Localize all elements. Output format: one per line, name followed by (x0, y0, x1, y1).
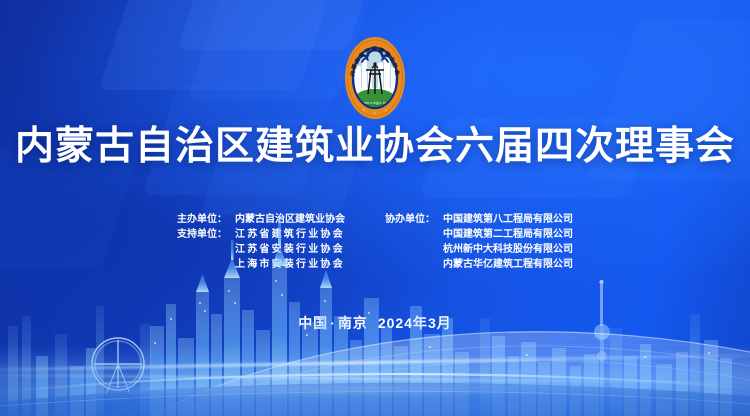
ferris-wheel (92, 338, 144, 394)
light-streak (0, 353, 750, 372)
conference-banner: www.nmgjx.org 内蒙古自治区建筑业协会 内蒙古自治区建筑业协会六届四… (0, 0, 750, 416)
country-label: 中国 (298, 315, 328, 331)
organizer-value: 中国建筑第二工程局有限公司 (443, 227, 573, 242)
location-date: 中国·南京2024年3月 (0, 313, 750, 333)
organizer-value: 中国建筑第八工程局有限公司 (443, 212, 573, 227)
page-title: 内蒙古自治区建筑业协会六届四次理事会 (0, 127, 750, 166)
organizer-row: 支持单位： 江苏省建筑行业协会 (177, 227, 345, 242)
organizer-value: 江苏省建筑行业协会 (235, 227, 345, 242)
organizer-row: 协办单位： 杭州新中大科技股份有限公司 (385, 242, 573, 257)
organizer-value: 江苏省安装行业协会 (235, 242, 345, 257)
organizer-label: 协办单位： (385, 212, 443, 227)
floor-glow (0, 344, 750, 416)
association-emblem-icon: www.nmgjx.org 内蒙古自治区建筑业协会 (344, 36, 406, 120)
organizer-value: 上海市安装行业协会 (235, 257, 345, 272)
organizer-value: 内蒙古自治区建筑业协会 (235, 212, 345, 227)
light-streak (0, 374, 750, 385)
light-streak-glow (0, 383, 750, 395)
organizer-row: 主办单位： 内蒙古自治区建筑业协会 (177, 212, 345, 227)
background-parallelogram (476, 0, 750, 120)
arc-sweep (150, 332, 750, 416)
organizers-left-column: 主办单位： 内蒙古自治区建筑业协会 支持单位： 江苏省建筑行业协会 支持单位： … (177, 212, 345, 272)
organizer-row: 协办单位： 中国建筑第二工程局有限公司 (385, 227, 573, 242)
background-parallelogram (99, 0, 341, 90)
organizer-label: 主办单位： (177, 212, 235, 227)
organizer-row: 协办单位： 中国建筑第八工程局有限公司 (385, 212, 573, 227)
organizer-label: 支持单位： (177, 227, 235, 242)
organizer-row: 支持单位： 上海市安装行业协会 (177, 257, 345, 272)
organizer-row: 支持单位： 江苏省安装行业协会 (177, 242, 345, 257)
city-label: 南京 (338, 315, 368, 331)
organizers-block: 主办单位： 内蒙古自治区建筑业协会 支持单位： 江苏省建筑行业协会 支持单位： … (0, 212, 750, 272)
organizer-value: 杭州新中大科技股份有限公司 (443, 242, 573, 257)
separator-dot: · (328, 315, 338, 331)
pearl-tower (594, 280, 610, 416)
date-label: 2024年3月 (378, 315, 452, 331)
organizer-row: 协办单位： 内蒙古华亿建筑工程有限公司 (385, 257, 573, 272)
organizers-right-column: 协办单位： 中国建筑第八工程局有限公司 协办单位： 中国建筑第二工程局有限公司 … (385, 212, 573, 272)
organizer-value: 内蒙古华亿建筑工程有限公司 (443, 257, 573, 272)
